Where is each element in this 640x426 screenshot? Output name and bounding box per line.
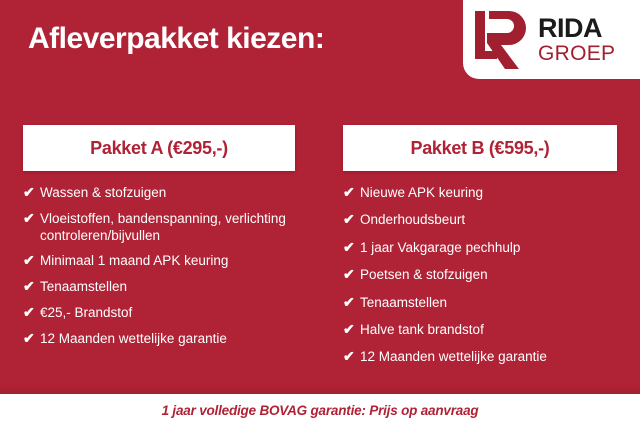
check-icon: ✔: [343, 321, 360, 339]
check-icon: ✔: [343, 184, 360, 202]
feature-label: 12 Maanden wettelijke garantie: [360, 348, 617, 365]
check-icon: ✔: [23, 252, 40, 270]
page-title: Afleverpakket kiezen:: [28, 22, 324, 56]
package-b-feature-list: ✔ Nieuwe APK keuring ✔ Onderhoudsbeurt ✔…: [343, 184, 617, 366]
rida-r-mark-icon: [473, 9, 531, 71]
list-item: ✔ Wassen & stofzuigen: [23, 184, 295, 202]
check-icon: ✔: [23, 184, 40, 202]
feature-label: Onderhoudsbeurt: [360, 211, 617, 228]
package-column-b: Pakket B (€595,-) ✔ Nieuwe APK keuring ✔…: [320, 125, 640, 376]
poster-header: Afleverpakket kiezen: RIDA GROEP: [0, 0, 640, 92]
check-icon: ✔: [343, 294, 360, 312]
list-item: ✔ 1 jaar Vakgarage pechhulp: [343, 239, 617, 257]
logo-subname: GROEP: [538, 43, 615, 64]
check-icon: ✔: [23, 278, 40, 296]
feature-label: 12 Maanden wettelijke garantie: [40, 330, 295, 347]
list-item: ✔ Nieuwe APK keuring: [343, 184, 617, 202]
list-item: ✔ Vloeistoffen, bandenspanning, verlicht…: [23, 210, 295, 245]
feature-label: Tenaamstellen: [360, 294, 617, 311]
feature-label: Tenaamstellen: [40, 278, 295, 295]
feature-label: Wassen & stofzuigen: [40, 184, 295, 201]
package-a-feature-list: ✔ Wassen & stofzuigen ✔ Vloeistoffen, ba…: [23, 184, 295, 348]
list-item: ✔ Minimaal 1 maand APK keuring: [23, 252, 295, 270]
promo-poster: Afleverpakket kiezen: RIDA GROEP Pakket …: [0, 0, 640, 426]
package-b-title-box[interactable]: Pakket B (€595,-): [343, 125, 617, 171]
list-item: ✔ 12 Maanden wettelijke garantie: [23, 330, 295, 348]
list-item: ✔ Poetsen & stofzuigen: [343, 266, 617, 284]
check-icon: ✔: [343, 239, 360, 257]
feature-label: 1 jaar Vakgarage pechhulp: [360, 239, 617, 256]
check-icon: ✔: [343, 266, 360, 284]
feature-label: Minimaal 1 maand APK keuring: [40, 252, 295, 269]
list-item: ✔ Tenaamstellen: [23, 278, 295, 296]
check-icon: ✔: [23, 304, 40, 322]
feature-label: Halve tank brandstof: [360, 321, 617, 338]
package-column-a: Pakket A (€295,-) ✔ Wassen & stofzuigen …: [0, 125, 320, 376]
list-item: ✔ 12 Maanden wettelijke garantie: [343, 348, 617, 366]
footer-text: 1 jaar volledige BOVAG garantie: Prijs o…: [162, 403, 479, 418]
feature-label: Poetsen & stofzuigen: [360, 266, 617, 283]
list-item: ✔ €25,- Brandstof: [23, 304, 295, 322]
logo-name: RIDA: [538, 15, 615, 42]
check-icon: ✔: [343, 348, 360, 366]
feature-label: €25,- Brandstof: [40, 304, 295, 321]
logo-wordmark: RIDA GROEP: [538, 15, 615, 64]
poster-footer: 1 jaar volledige BOVAG garantie: Prijs o…: [0, 394, 640, 426]
list-item: ✔ Halve tank brandstof: [343, 321, 617, 339]
check-icon: ✔: [23, 330, 40, 348]
package-a-title: Pakket A (€295,-): [90, 138, 228, 159]
package-b-title: Pakket B (€595,-): [411, 138, 550, 159]
list-item: ✔ Tenaamstellen: [343, 294, 617, 312]
list-item: ✔ Onderhoudsbeurt: [343, 211, 617, 229]
feature-label: Vloeistoffen, bandenspanning, verlichtin…: [40, 210, 295, 245]
packages-columns: Pakket A (€295,-) ✔ Wassen & stofzuigen …: [0, 125, 640, 376]
package-a-title-box[interactable]: Pakket A (€295,-): [23, 125, 295, 171]
feature-label: Nieuwe APK keuring: [360, 184, 617, 201]
rida-groep-logo: RIDA GROEP: [463, 0, 640, 79]
check-icon: ✔: [23, 210, 40, 228]
check-icon: ✔: [343, 211, 360, 229]
